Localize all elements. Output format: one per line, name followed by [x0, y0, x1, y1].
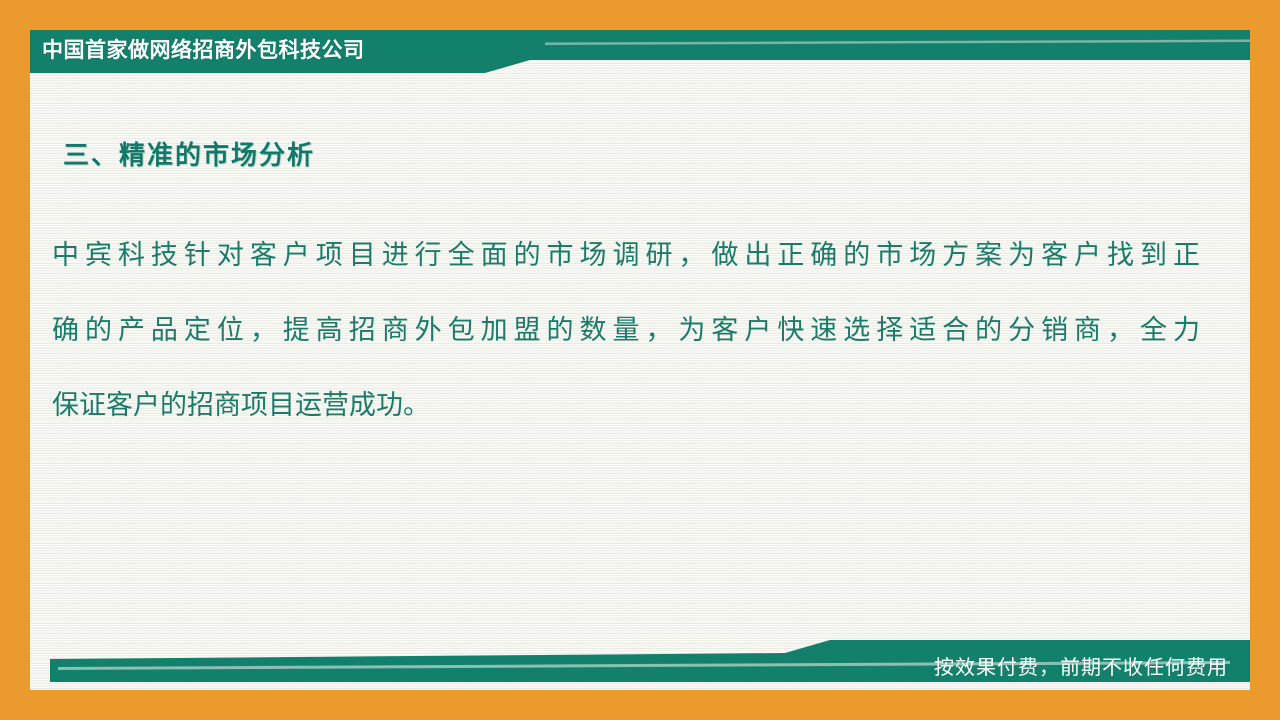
body-paragraph: 中宾科技针对客户项目进行全面的市场调研，做出正确的市场方案为客户找到正 确的产品… — [52, 218, 1200, 443]
header-title: 中国首家做网络招商外包科技公司 — [42, 34, 365, 64]
slide-canvas: 中国首家做网络招商外包科技公司 三、精准的市场分析 中宾科技针对客户项目进行全面… — [0, 0, 1280, 720]
paragraph-line-2: 确的产品定位，提高招商外包加盟的数量，为客户快速选择适合的分销商，全力 — [52, 293, 1200, 368]
paragraph-line-1: 中宾科技针对客户项目进行全面的市场调研，做出正确的市场方案为客户找到正 — [52, 218, 1200, 293]
footer-tagline: 按效果付费，前期不收任何费用 — [934, 651, 1228, 680]
slide-content: 三、精准的市场分析 中宾科技针对客户项目进行全面的市场调研，做出正确的市场方案为… — [30, 78, 1250, 640]
paragraph-line-3: 保证客户的招商项目运营成功。 — [52, 368, 1200, 443]
section-heading: 三、精准的市场分析 — [63, 135, 315, 172]
